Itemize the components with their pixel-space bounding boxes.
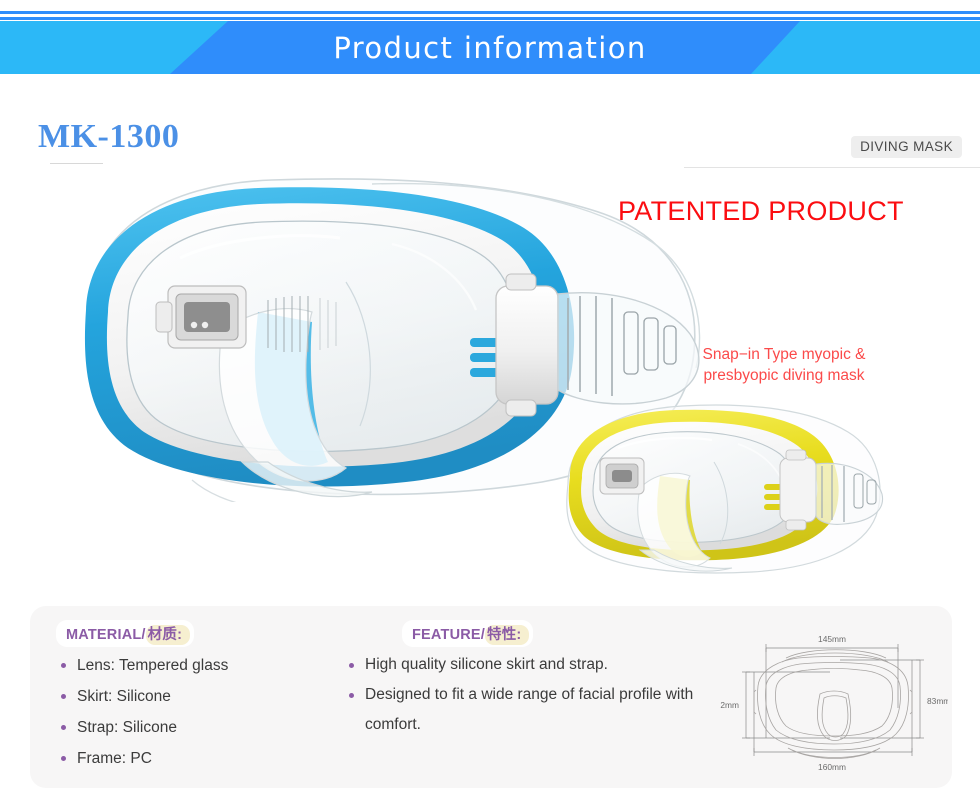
dimension-drawing: 145mm 160mm 72mm 83mm [720, 620, 948, 778]
category-badge: DIVING MASK [851, 136, 962, 158]
feature-heading-pill: FEATURE/特性: [402, 620, 533, 647]
product-model-name: MK-1300 [38, 118, 179, 156]
list-item: Strap: Silicone [60, 712, 360, 743]
material-heading: MATERIAL/材质: [56, 620, 194, 647]
list-item: Lens: Tempered glass [60, 650, 360, 681]
feature-list: High quality silicone skirt and strap. D… [348, 650, 718, 740]
top-rule-secondary [0, 17, 980, 20]
product-information-page: Product information MK-1300 DIVING MASK … [0, 0, 980, 800]
dimension-left-label: 72mm [720, 700, 739, 710]
dimension-top-label: 145mm [818, 634, 846, 644]
list-item: Frame: PC [60, 743, 360, 774]
page-header-banner: Product information [0, 21, 980, 74]
header-divider [684, 167, 980, 168]
secondary-product-image-yellow-diving-mask [556, 392, 886, 582]
list-item: Skirt: Silicone [60, 681, 360, 712]
list-item: High quality silicone skirt and strap. [348, 650, 718, 680]
dimension-right-label: 83mm [927, 696, 948, 706]
feature-heading-cn: 特性: [485, 625, 529, 645]
material-list: Lens: Tempered glass Skirt: Silicone Str… [60, 650, 360, 774]
page-title: Product information [0, 21, 980, 74]
feature-heading: FEATURE/特性: [402, 620, 533, 647]
dimension-bottom-label: 160mm [818, 762, 846, 772]
feature-heading-en: FEATURE/ [412, 627, 485, 643]
material-heading-cn: 材质: [146, 625, 190, 645]
top-rule-primary [0, 11, 980, 14]
material-heading-pill: MATERIAL/材质: [56, 620, 194, 647]
material-heading-en: MATERIAL/ [66, 627, 146, 643]
specification-panel: MATERIAL/材质: Lens: Tempered glass Skirt:… [30, 606, 952, 788]
list-item: Designed to fit a wide range of facial p… [348, 680, 718, 740]
